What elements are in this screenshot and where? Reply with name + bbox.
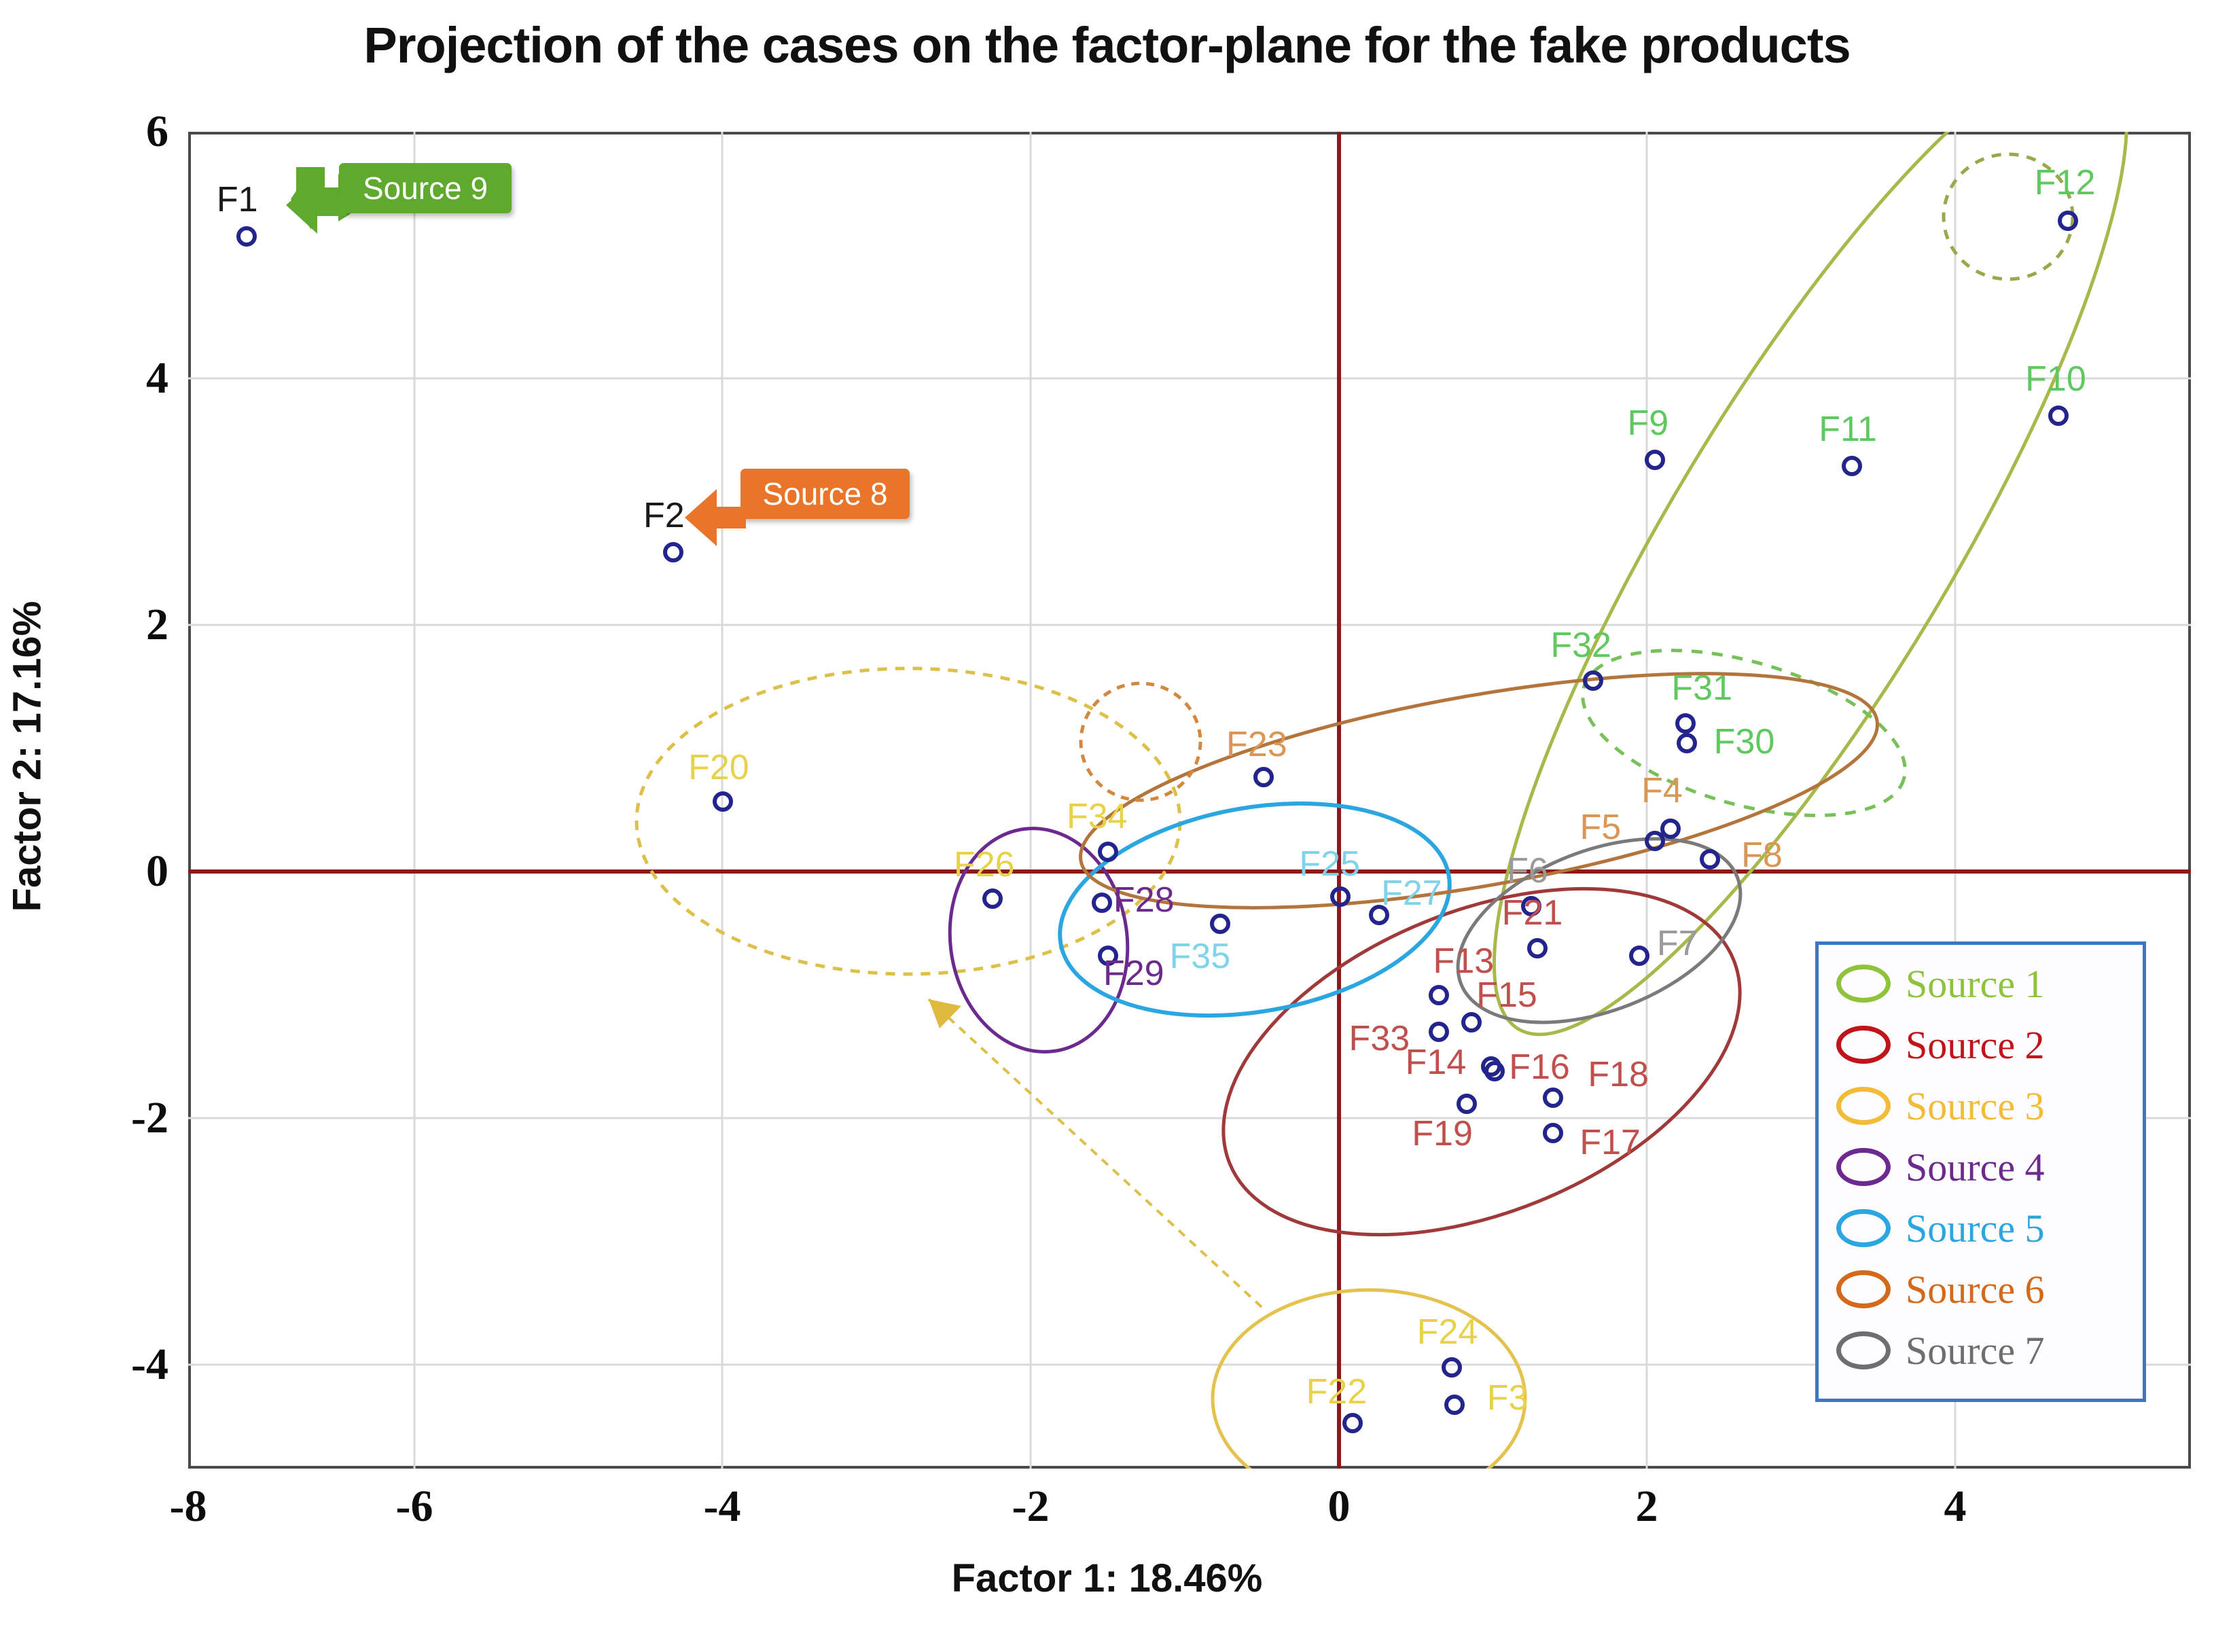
callout-source-9-box: Source 9 xyxy=(339,163,512,213)
source-8-arrowhead-icon xyxy=(679,475,754,577)
data-point-label-f32: F32 xyxy=(1550,625,1611,666)
page-title: Projection of the cases on the factor-pl… xyxy=(0,16,2214,74)
data-point-f30[interactable] xyxy=(1677,733,1697,753)
legend-ellipse-icon xyxy=(1836,1087,1891,1125)
data-point-f7[interactable] xyxy=(1629,946,1649,966)
data-point-label-f24: F24 xyxy=(1417,1312,1478,1352)
data-point-f33[interactable] xyxy=(1429,1022,1449,1042)
legend-label: Source 7 xyxy=(1906,1328,2045,1373)
legend-ellipse-icon xyxy=(1836,965,1891,1003)
data-point-f17[interactable] xyxy=(1543,1123,1563,1143)
data-point-label-f19: F19 xyxy=(1412,1113,1473,1154)
data-point-label-f1: F1 xyxy=(217,179,258,220)
y-tick-label: -2 xyxy=(131,1092,168,1144)
data-point-f9[interactable] xyxy=(1645,450,1665,470)
data-point-label-f7: F7 xyxy=(1657,923,1698,964)
callout-source-8-label: Source 8 xyxy=(762,475,887,512)
data-point-label-f3: F3 xyxy=(1487,1378,1529,1418)
x-tick-label: -2 xyxy=(1012,1481,1050,1532)
data-point-label-f35: F35 xyxy=(1170,936,1231,977)
x-tick-label: 0 xyxy=(1328,1481,1351,1532)
data-point-f8[interactable] xyxy=(1700,849,1720,869)
data-point-f35[interactable] xyxy=(1210,914,1230,934)
data-point-f19[interactable] xyxy=(1457,1094,1477,1114)
legend-ellipse-icon xyxy=(1836,1331,1891,1369)
data-point-f20[interactable] xyxy=(713,791,733,812)
legend-item-source-2[interactable]: Source 2 xyxy=(1836,1014,2143,1075)
data-point-label-f15: F15 xyxy=(1476,975,1537,1016)
y-tick-label: 6 xyxy=(146,106,168,158)
data-point-label-f30: F30 xyxy=(1714,721,1775,762)
data-point-label-f29: F29 xyxy=(1103,953,1164,994)
data-point-label-f21: F21 xyxy=(1502,893,1563,933)
data-point-f1[interactable] xyxy=(236,226,257,247)
data-point-f12[interactable] xyxy=(2058,211,2078,231)
legend[interactable]: Source 1 Source 2 Source 3 Source 4 Sour… xyxy=(1815,941,2146,1402)
data-point-f21[interactable] xyxy=(1527,938,1548,958)
data-point-label-f20: F20 xyxy=(688,747,749,788)
legend-label: Source 3 xyxy=(1906,1083,2045,1129)
chart-canvas: Projection of the cases on the factor-pl… xyxy=(0,0,2214,1652)
data-point-f13[interactable] xyxy=(1429,985,1449,1005)
callout-source-9-label: Source 9 xyxy=(363,170,488,206)
legend-ellipse-icon xyxy=(1836,1209,1891,1247)
data-point-label-f5: F5 xyxy=(1579,807,1621,848)
data-point-f3[interactable] xyxy=(1444,1395,1465,1415)
legend-item-source-5[interactable]: Source 5 xyxy=(1836,1198,2143,1259)
data-point-f5[interactable] xyxy=(1645,831,1665,851)
data-point-label-f6: F6 xyxy=(1507,850,1548,891)
data-point-label-f34: F34 xyxy=(1067,796,1128,837)
data-point-label-f28: F28 xyxy=(1113,880,1175,920)
legend-label: Source 5 xyxy=(1906,1206,2045,1251)
data-point-label-f23: F23 xyxy=(1226,724,1287,765)
legend-ellipse-icon xyxy=(1836,1148,1891,1186)
data-point-f25[interactable] xyxy=(1330,886,1351,907)
y-tick-label: -4 xyxy=(131,1339,168,1390)
x-tick-label: 2 xyxy=(1636,1481,1658,1532)
y-tick-label: 0 xyxy=(146,846,168,897)
data-point-f22[interactable] xyxy=(1342,1413,1363,1433)
legend-item-source-1[interactable]: Source 1 xyxy=(1836,953,2143,1014)
data-point-label-f2: F2 xyxy=(643,495,685,536)
x-tick-label: -4 xyxy=(704,1481,741,1532)
legend-item-source-4[interactable]: Source 4 xyxy=(1836,1136,2143,1198)
data-point-label-f18: F18 xyxy=(1588,1054,1649,1095)
legend-label: Source 4 xyxy=(1906,1145,2045,1190)
legend-ellipse-icon xyxy=(1836,1026,1891,1064)
callout-source-8-box: Source 8 xyxy=(740,469,910,519)
legend-item-source-3[interactable]: Source 3 xyxy=(1836,1075,2143,1136)
data-point-label-f11: F11 xyxy=(1819,409,1877,450)
data-point-f32[interactable] xyxy=(1583,670,1603,691)
legend-label: Source 2 xyxy=(1906,1022,2045,1068)
data-point-label-f22: F22 xyxy=(1306,1371,1368,1412)
data-point-label-f27: F27 xyxy=(1381,873,1442,914)
data-point-f28[interactable] xyxy=(1092,893,1112,913)
data-point-label-f10: F10 xyxy=(2025,359,2086,399)
data-point-f16[interactable] xyxy=(1484,1061,1505,1081)
x-tick-label: -8 xyxy=(170,1481,207,1532)
data-point-label-f31: F31 xyxy=(1671,668,1732,708)
data-point-f26[interactable] xyxy=(982,888,1003,909)
legend-ellipse-icon xyxy=(1836,1270,1891,1308)
data-point-label-f9: F9 xyxy=(1627,403,1668,444)
data-point-f10[interactable] xyxy=(2048,406,2069,426)
data-point-label-f12: F12 xyxy=(2035,162,2096,203)
data-point-label-f26: F26 xyxy=(954,844,1015,885)
y-tick-label: 2 xyxy=(146,599,168,651)
x-axis-title: Factor 1: 18.46% xyxy=(0,1556,2214,1601)
data-point-f24[interactable] xyxy=(1442,1357,1462,1378)
data-point-label-f33: F33 xyxy=(1349,1018,1410,1059)
data-point-label-f25: F25 xyxy=(1299,844,1360,884)
source-9-arrowhead-icon xyxy=(282,163,357,265)
data-point-label-f4: F4 xyxy=(1641,770,1683,811)
legend-label: Source 1 xyxy=(1906,961,2045,1007)
data-point-f23[interactable] xyxy=(1253,767,1274,787)
data-point-f18[interactable] xyxy=(1543,1088,1563,1108)
y-axis-title: Factor 2: 17.16% xyxy=(5,485,50,1028)
data-point-label-f14: F14 xyxy=(1406,1042,1467,1083)
x-tick-label: -6 xyxy=(396,1481,433,1532)
data-point-label-f8: F8 xyxy=(1741,835,1783,876)
y-tick-label: 4 xyxy=(146,353,168,404)
data-point-label-f16: F16 xyxy=(1509,1047,1570,1088)
legend-item-source-6[interactable]: Source 6 xyxy=(1836,1259,2143,1320)
x-tick-label: 4 xyxy=(1944,1481,1967,1532)
data-point-label-f17: F17 xyxy=(1579,1122,1641,1163)
data-point-f34[interactable] xyxy=(1098,842,1118,862)
legend-label: Source 6 xyxy=(1906,1267,2045,1312)
data-point-f11[interactable] xyxy=(1842,456,1862,476)
data-point-f31[interactable] xyxy=(1675,713,1696,734)
legend-item-source-7[interactable]: Source 7 xyxy=(1836,1320,2143,1381)
